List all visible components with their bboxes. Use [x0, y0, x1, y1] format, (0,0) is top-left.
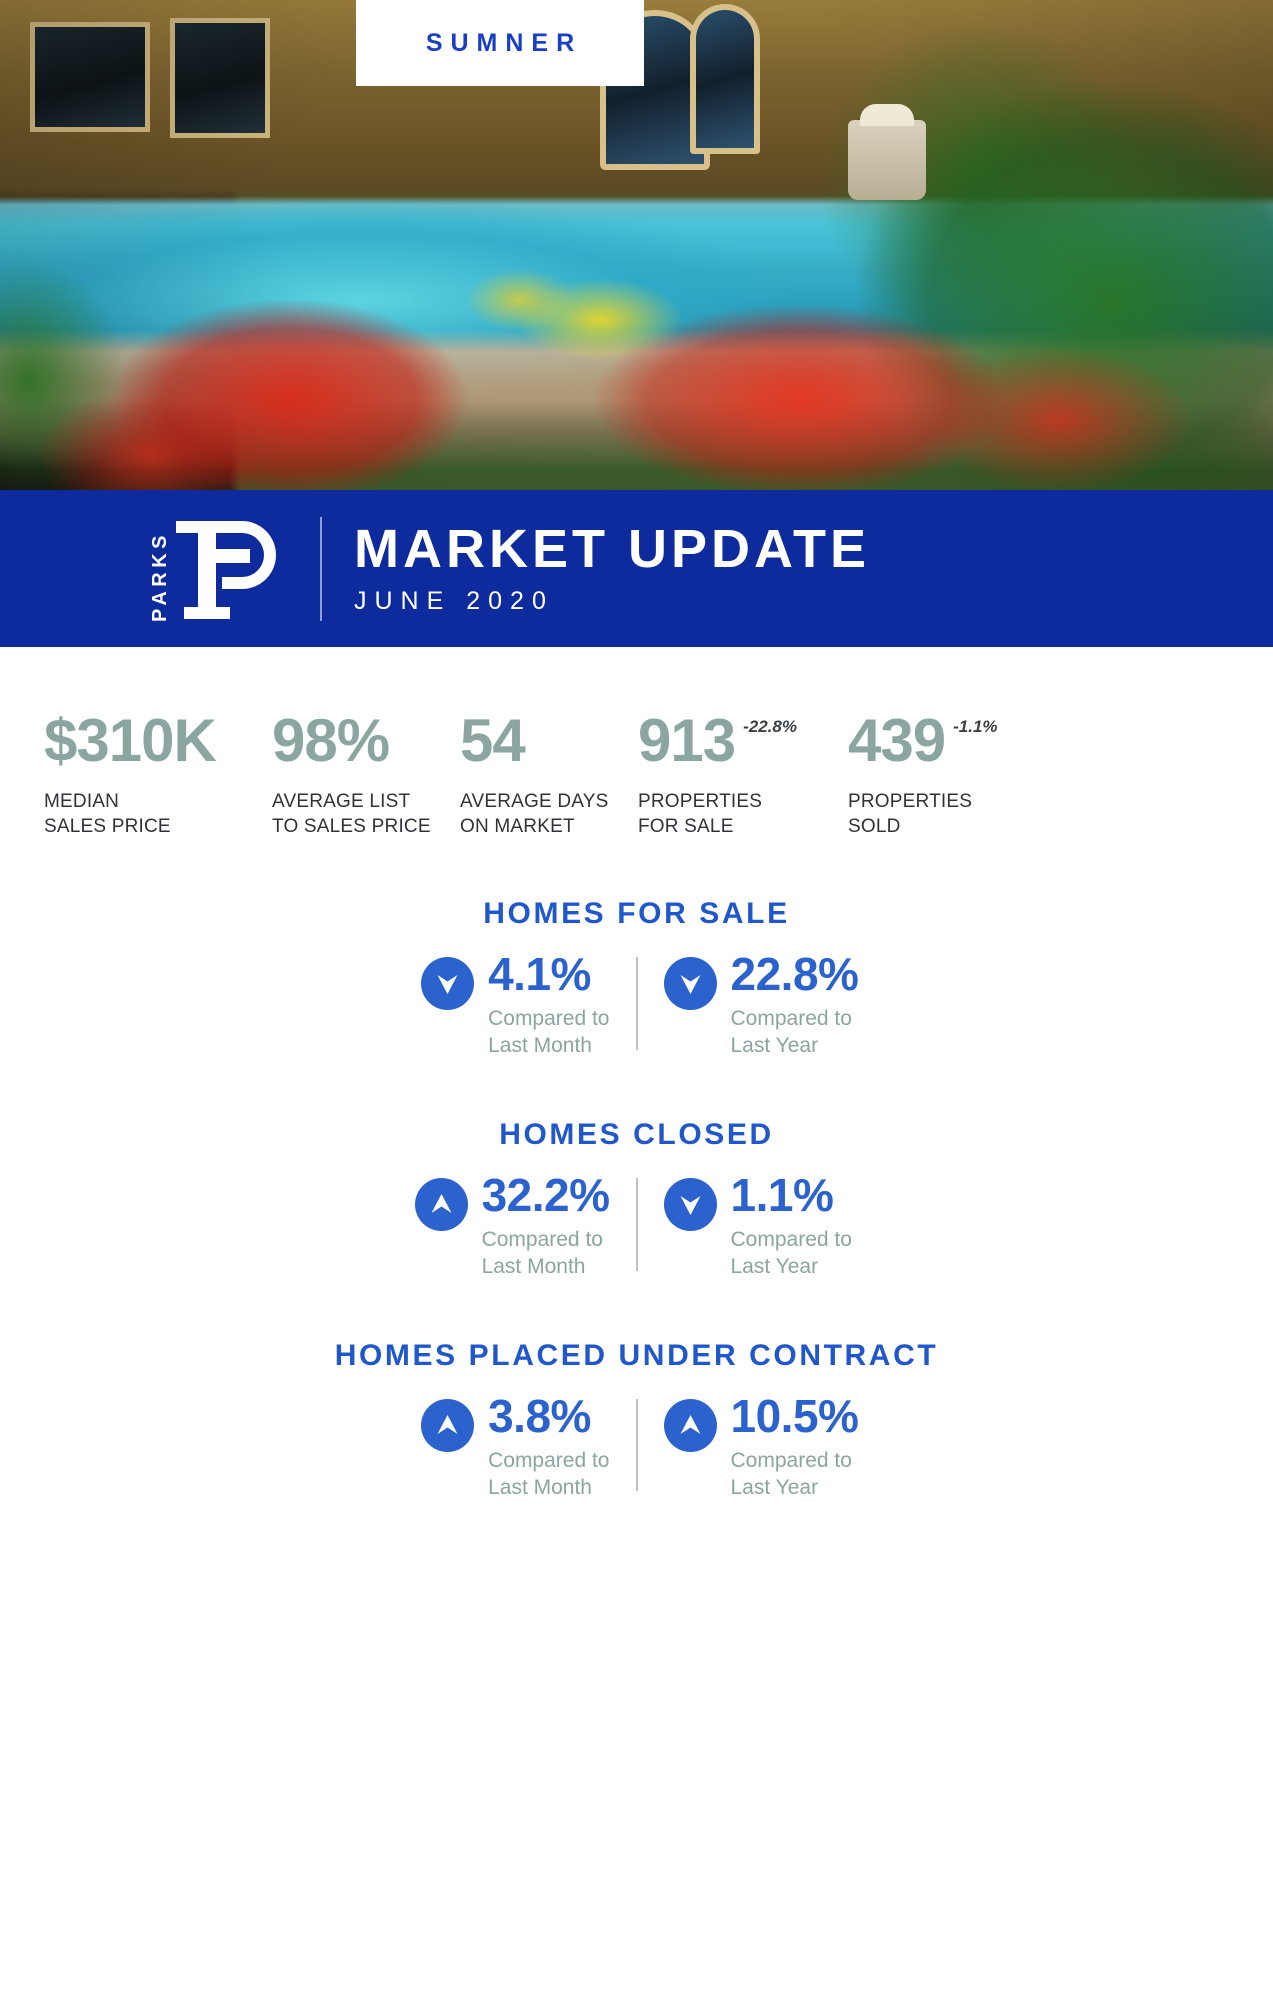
comparison-percent: 22.8%: [731, 951, 859, 997]
page-subtitle-date: JUNE 2020: [354, 587, 870, 616]
comparison-percent: 3.8%: [488, 1393, 609, 1439]
kpi-label-line2: TO SALES PRICE: [272, 816, 431, 837]
comparison-note: Compared to Last Year: [731, 1227, 852, 1281]
kpi-value: 98%: [272, 711, 389, 771]
kpi-label-line2: ON MARKET: [460, 816, 575, 837]
section-homes-closed: HOMES CLOSED 32.2% Compared to Last Mont…: [0, 1118, 1273, 1281]
comparison-percent: 32.2%: [482, 1172, 610, 1218]
section-title: HOMES FOR SALE: [0, 897, 1273, 931]
kpi-delta: -22.8%: [743, 717, 797, 737]
comparison-note: Compared to Last Year: [731, 1006, 859, 1060]
comparison-note-line1: Compared to: [488, 1449, 609, 1472]
kpi-label: PROPERTIES FOR SALE: [638, 789, 838, 839]
kpi-label-line1: PROPERTIES: [638, 791, 762, 812]
parks-logo: PARKS: [150, 515, 290, 623]
kpi-average-days-on-market: 54 AVERAGE DAYS ON MARKET: [460, 711, 628, 839]
arrow-down-icon: [664, 957, 717, 1010]
page-title: MARKET UPDATE: [354, 521, 870, 578]
band-divider: [320, 517, 322, 621]
comparison-last-month: 4.1% Compared to Last Month: [383, 951, 636, 1060]
kpi-label: AVERAGE DAYS ON MARKET: [460, 789, 628, 839]
comparison-last-year: 10.5% Compared to Last Year: [638, 1393, 891, 1502]
kpi-label-line1: PROPERTIES: [848, 791, 972, 812]
kpi-label: MEDIAN SALES PRICE: [44, 789, 262, 839]
tp-monogram-icon: [172, 517, 290, 623]
kpi-label-line1: AVERAGE DAYS: [460, 791, 608, 812]
arrow-down-icon: [664, 1178, 717, 1231]
kpi-delta: -1.1%: [953, 717, 997, 737]
comparison-note-line2: Last Month: [488, 1034, 592, 1057]
kpi-properties-for-sale: 913 -22.8% PROPERTIES FOR SALE: [638, 711, 838, 839]
bottom-spacer: [0, 1501, 1273, 1571]
comparison-last-year: 22.8% Compared to Last Year: [638, 951, 891, 1060]
kpi-value: 54: [460, 711, 525, 771]
city-name-label: SUMNER: [418, 29, 582, 58]
kpi-label-line1: AVERAGE LIST: [272, 791, 410, 812]
comparison-note-line2: Last Month: [488, 1476, 592, 1499]
kpi-value: 913: [638, 711, 735, 771]
section-homes-for-sale: HOMES FOR SALE 4.1% Compared to Last Mon…: [0, 897, 1273, 1060]
comparison-last-year: 1.1% Compared to Last Year: [638, 1172, 891, 1281]
parks-logo-wordmark: PARKS: [150, 529, 170, 622]
kpi-label: AVERAGE LIST TO SALES PRICE: [272, 789, 450, 839]
comparison-note-line1: Compared to: [731, 1007, 852, 1030]
section-title: HOMES CLOSED: [0, 1118, 1273, 1152]
comparison-note: Compared to Last Year: [731, 1448, 859, 1502]
hero-photo-section: SUMNER: [0, 0, 1273, 490]
section-comparison-row: 4.1% Compared to Last Month 22.8%: [0, 951, 1273, 1060]
comparison-note-line1: Compared to: [731, 1228, 852, 1251]
comparison-note-line1: Compared to: [482, 1228, 603, 1251]
comparison-note-line2: Last Year: [731, 1476, 819, 1499]
comparison-percent: 10.5%: [731, 1393, 859, 1439]
comparison-note-line1: Compared to: [488, 1007, 609, 1030]
kpi-row: $310K MEDIAN SALES PRICE 98% AVERAGE LIS…: [0, 647, 1273, 839]
comparison-note-line1: Compared to: [731, 1449, 852, 1472]
city-name-tab: SUMNER: [356, 0, 644, 86]
section-comparison-row: 32.2% Compared to Last Month 1.1%: [0, 1172, 1273, 1281]
comparison-percent: 4.1%: [488, 951, 609, 997]
kpi-properties-sold: 439 -1.1% PROPERTIES SOLD: [848, 711, 1048, 839]
comparison-note-line2: Last Month: [482, 1255, 586, 1278]
comparison-note: Compared to Last Month: [488, 1448, 609, 1502]
arrow-down-icon: [421, 957, 474, 1010]
comparison-percent: 1.1%: [731, 1172, 852, 1218]
kpi-label: PROPERTIES SOLD: [848, 789, 1048, 839]
title-band: PARKS MARKET UPDATE JUNE 2020: [0, 490, 1273, 647]
kpi-label-line2: SALES PRICE: [44, 816, 171, 837]
kpi-value: $310K: [44, 711, 216, 771]
comparison-note-line2: Last Year: [731, 1034, 819, 1057]
arrow-up-icon: [664, 1399, 717, 1452]
comparison-note: Compared to Last Month: [482, 1227, 610, 1281]
comparison-note: Compared to Last Month: [488, 1006, 609, 1060]
arrow-up-icon: [421, 1399, 474, 1452]
arrow-up-icon: [415, 1178, 468, 1231]
kpi-median-sales-price: $310K MEDIAN SALES PRICE: [44, 711, 262, 839]
market-update-infographic: SUMNER PARKS MARKET UPDATE: [0, 0, 1273, 2000]
comparison-last-month: 3.8% Compared to Last Month: [383, 1393, 636, 1502]
kpi-value: 439: [848, 711, 945, 771]
section-title: HOMES PLACED UNDER CONTRACT: [0, 1339, 1273, 1373]
kpi-average-list-to-sales-price: 98% AVERAGE LIST TO SALES PRICE: [272, 711, 450, 839]
kpi-label-line1: MEDIAN: [44, 791, 119, 812]
comparison-last-month: 32.2% Compared to Last Month: [383, 1172, 636, 1281]
section-homes-placed-under-contract: HOMES PLACED UNDER CONTRACT 3.8% Compare…: [0, 1339, 1273, 1502]
comparison-note-line2: Last Year: [731, 1255, 819, 1278]
section-comparison-row: 3.8% Compared to Last Month 10.5%: [0, 1393, 1273, 1502]
kpi-label-line2: SOLD: [848, 816, 901, 837]
kpi-label-line2: FOR SALE: [638, 816, 734, 837]
